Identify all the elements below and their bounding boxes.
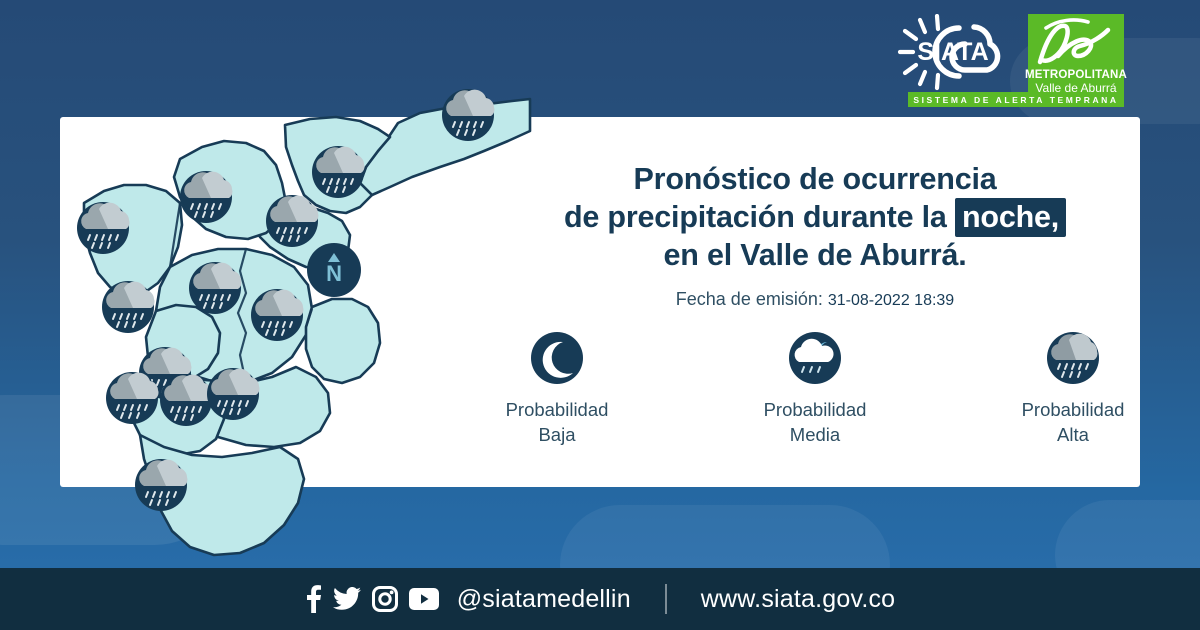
instagram-icon[interactable] [372, 586, 398, 612]
legend-label-alta: Probabilidad Alta [1022, 397, 1125, 447]
legend-label-media: Probabilidad Media [764, 397, 867, 447]
title-highlight-noche: noche, [955, 198, 1066, 237]
page-title: Pronóstico de ocurrencia de precipitació… [470, 160, 1160, 274]
legend-alta-line1: Probabilidad [1022, 397, 1125, 422]
compass-label: N [326, 261, 342, 286]
twitter-icon[interactable] [333, 587, 361, 611]
emission-date: Fecha de emisión: 31-08-2022 18:39 [470, 289, 1160, 310]
tagline-bar: SISTEMA DE ALERTA TEMPRANA [908, 92, 1124, 107]
tagline-text: SISTEMA DE ALERTA TEMPRANA [913, 95, 1118, 105]
legend-item-media[interactable]: Probabilidad Media [740, 330, 890, 447]
emission-label: Fecha de emisión: [676, 289, 823, 309]
footer-divider [665, 584, 667, 614]
area-script-icon [1028, 16, 1124, 74]
title-line-3: en el Valle de Aburrá. [470, 236, 1160, 274]
legend-baja-line2: Baja [506, 422, 609, 447]
youtube-icon[interactable] [409, 588, 439, 610]
area-metropolitana-logo: METROPOLITANA Valle de Aburrá [1028, 14, 1124, 100]
legend-label-baja: Probabilidad Baja [506, 397, 609, 447]
emission-value: 31-08-2022 18:39 [828, 292, 954, 309]
valle-de-aburra-map: N [60, 55, 530, 575]
legend-item-baja[interactable]: Probabilidad Baja [482, 330, 632, 447]
compass-rose: N [307, 243, 361, 297]
legend-alta-line2: Alta [1022, 422, 1125, 447]
cloud-rain-icon [1045, 330, 1101, 386]
probability-legend: Probabilidad Baja Probabilidad Media [470, 330, 1160, 447]
legend-media-line2: Media [764, 422, 867, 447]
social-icons [305, 585, 439, 613]
moon-icon [529, 330, 585, 386]
siata-logo: SIATA [896, 14, 1018, 92]
municipality-envigado [306, 299, 380, 383]
siata-wordmark: SIATA [917, 38, 988, 66]
legend-baja-line1: Probabilidad [506, 397, 609, 422]
legend-media-line1: Probabilidad [764, 397, 867, 422]
footer-bar: @siatamedellin www.siata.gov.co [0, 568, 1200, 630]
social-handle[interactable]: @siatamedellin [457, 585, 631, 614]
facebook-icon[interactable] [305, 585, 322, 613]
headline-block: Pronóstico de ocurrencia de precipitació… [470, 160, 1160, 310]
logo-group: SIATA METROPOLITANA Valle de Aburrá [896, 14, 1124, 100]
website-url[interactable]: www.siata.gov.co [701, 585, 895, 614]
legend-item-alta[interactable]: Probabilidad Alta [998, 330, 1148, 447]
title-line-2-text: de precipitación durante la [564, 200, 955, 234]
title-line-2: de precipitación durante la noche, [470, 198, 1160, 236]
title-line-1: Pronóstico de ocurrencia [470, 160, 1160, 198]
cloud-moon-rain-icon [787, 330, 843, 386]
